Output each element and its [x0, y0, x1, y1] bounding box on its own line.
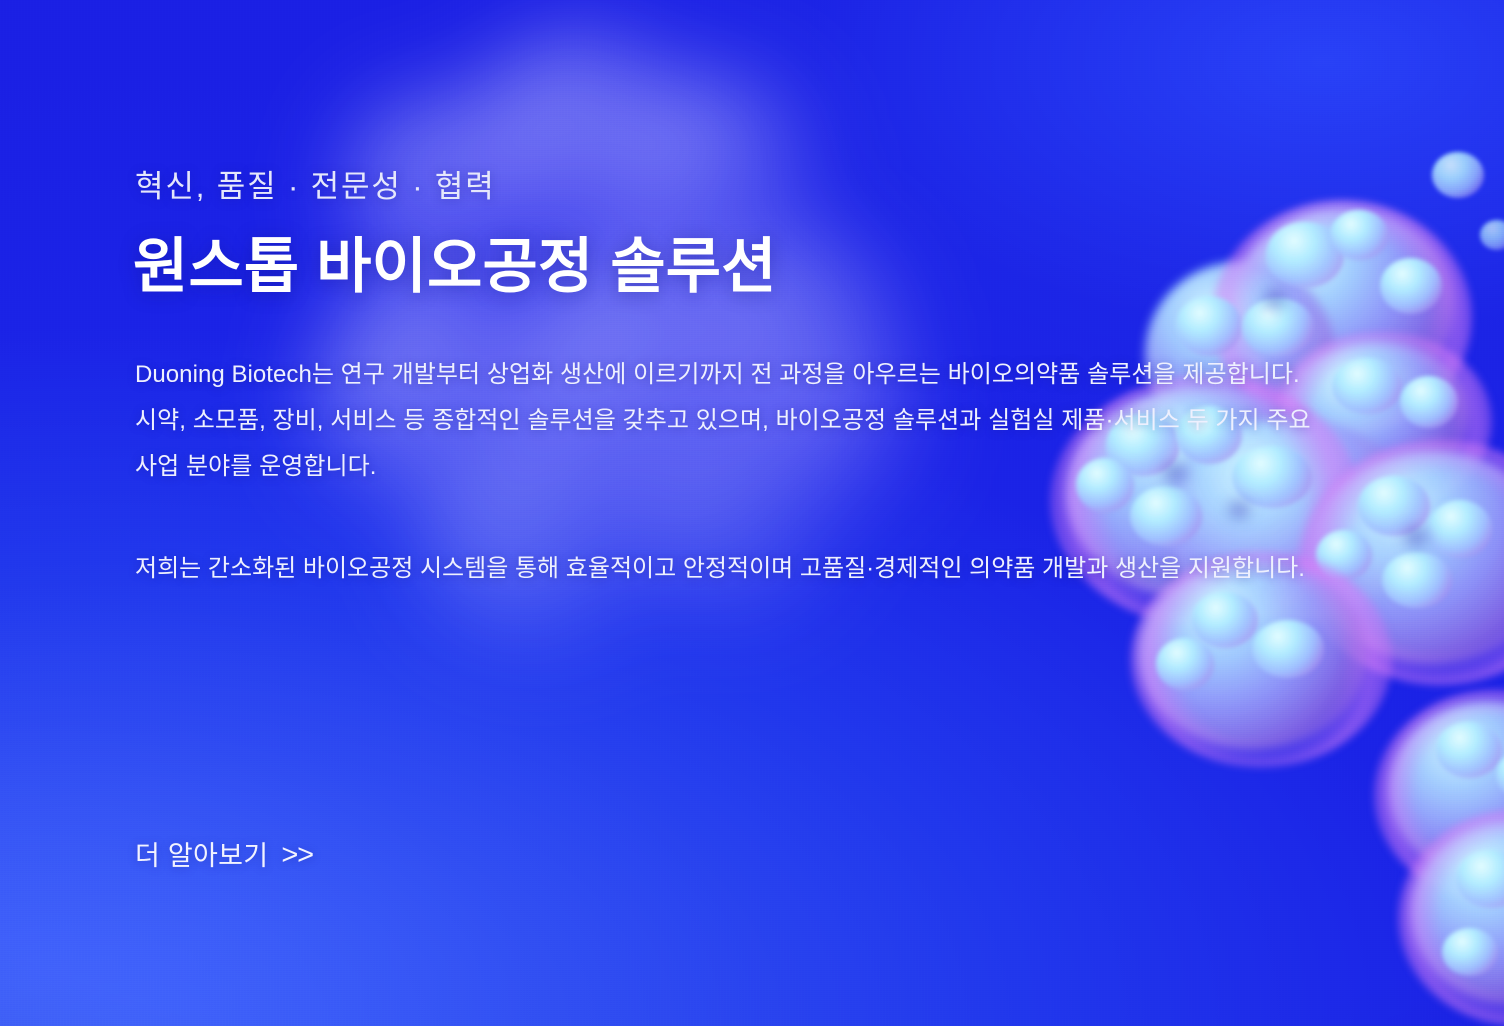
learn-more-label: 더 알아보기 [135, 843, 268, 870]
hero-banner: 혁신, 품질 · 전문성 · 협력 원스톱 바이오공정 솔루션 Duoning … [0, 0, 1504, 1026]
hero-supporting-note: 저희는 간소화된 바이오공정 시스템을 통해 효율적이고 안정적이며 고품질·경… [135, 546, 1305, 592]
hero-headline: 원스톱 바이오공정 솔루션 [133, 232, 777, 302]
chevron-double-right-icon: >> [281, 841, 313, 870]
hero-lede-paragraph: Duoning Biotech는 연구 개발부터 상업화 생산에 이르기까지 전… [135, 352, 1350, 490]
hero-lede-line: Duoning Biotech는 연구 개발부터 상업화 생산에 이르기까지 전… [135, 352, 1350, 398]
hero-lede-line: 사업 분야를 운영합니다. [135, 444, 1350, 490]
hero-content: 혁신, 품질 · 전문성 · 협력 원스톱 바이오공정 솔루션 Duoning … [135, 0, 1385, 1026]
hero-lede-line: 시약, 소모품, 장비, 서비스 등 종합적인 솔루션을 갖추고 있으며, 바이… [135, 398, 1350, 444]
learn-more-link[interactable]: 더 알아보기 >> [135, 842, 313, 871]
hero-eyebrow: 혁신, 품질 · 전문성 · 협력 [135, 168, 496, 207]
